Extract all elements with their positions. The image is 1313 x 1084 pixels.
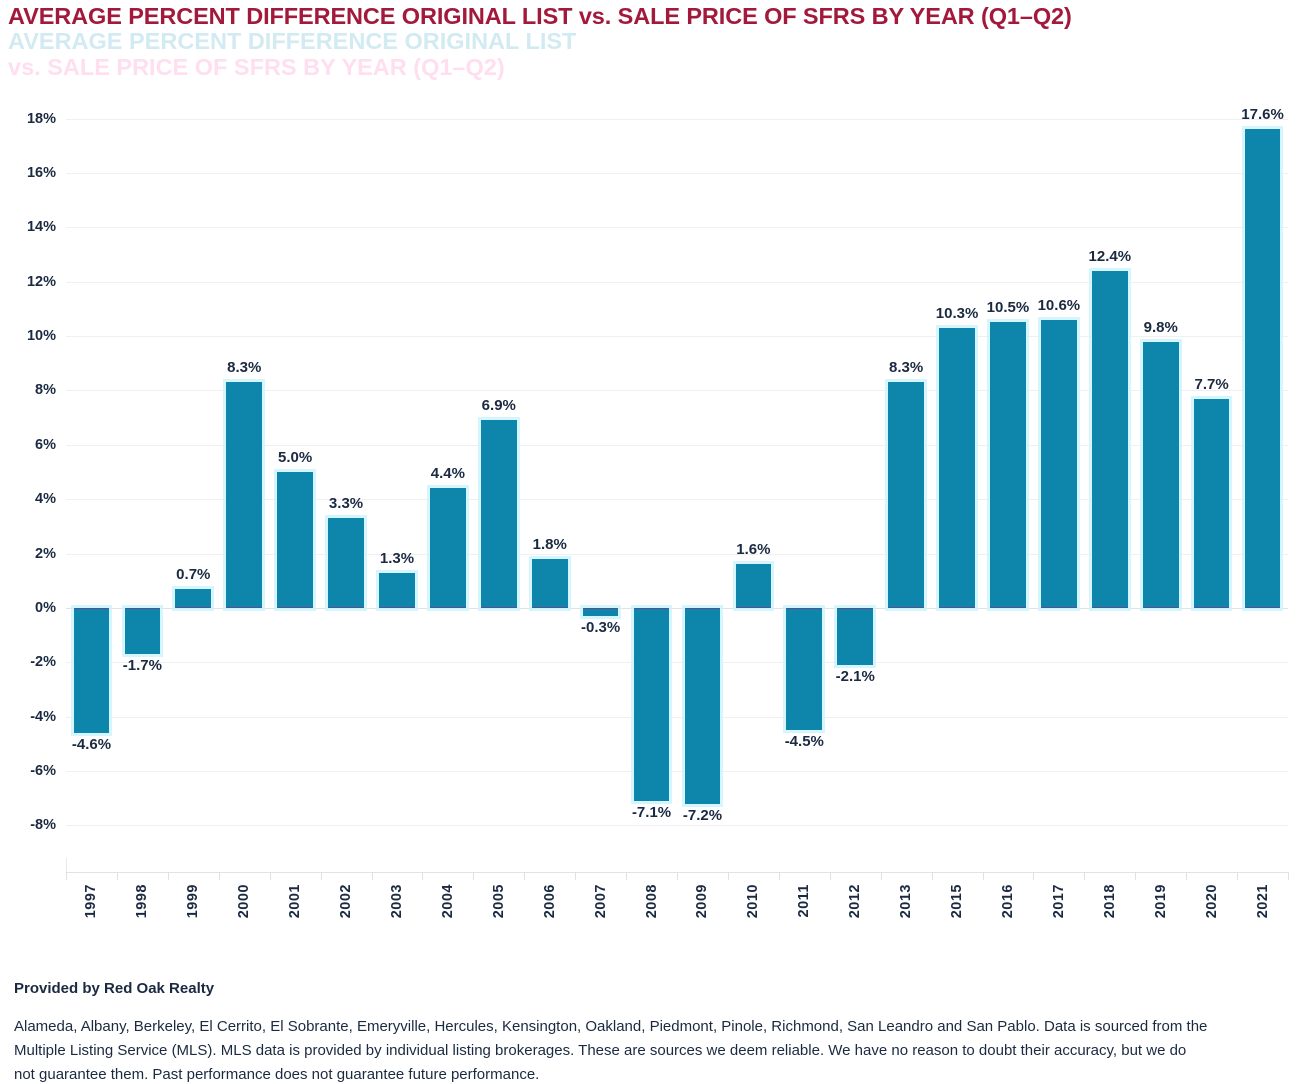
x-axis-tick-mark [1084,872,1085,880]
bar-1999[interactable] [175,589,211,608]
bar-value-label: -4.6% [72,736,111,753]
x-axis-label-2017: 2017 [1051,884,1067,918]
x-axis-tick-mark [677,872,678,880]
x-axis-label-2003: 2003 [389,884,405,918]
bar-slot: 1.3% [372,86,423,858]
bar-slot: 6.9% [473,86,524,858]
x-axis-tick-mark [1033,872,1034,880]
bar-slot: 10.3% [932,86,983,858]
bar-value-label: -4.5% [785,733,824,750]
bar-2012[interactable] [837,608,873,665]
x-axis-label-2012: 2012 [847,884,863,918]
bar-value-label: -2.1% [836,668,875,685]
bar-slot: 1.8% [524,86,575,858]
bar-value-label: 10.5% [987,299,1030,316]
x-axis-tick-mark [830,872,831,880]
bar-value-label: 5.0% [278,449,312,466]
bar-slot: -1.7% [117,86,168,858]
y-axis-tick-label: 2% [0,546,56,562]
x-axis-tick-mark [1186,872,1187,880]
y-axis-tick-label: 10% [0,328,56,344]
bar-slot: 10.5% [983,86,1034,858]
y-axis-tick-label: 12% [0,274,56,290]
bar-slot: 8.3% [881,86,932,858]
x-axis-tick-mark [881,872,882,880]
bar-2013[interactable] [888,382,924,608]
bar-2015[interactable] [939,328,975,608]
y-axis-tick-label: 4% [0,491,56,507]
bar-2003[interactable] [379,573,415,608]
bar-2006[interactable] [532,559,568,608]
bar-value-label: 1.6% [736,541,770,558]
x-axis-tick-mark [524,872,525,880]
x-axis-label-2019: 2019 [1153,884,1169,918]
bar-value-label: 17.6% [1241,106,1284,123]
bar-2010[interactable] [736,564,772,607]
bar-slot: 10.6% [1033,86,1084,858]
bar-slot: -0.3% [575,86,626,858]
footer-disclaimer: Alameda, Albany, Berkeley, El Cerrito, E… [14,1015,1210,1084]
x-axis-tick-mark [728,872,729,880]
bar-slot: 5.0% [270,86,321,858]
x-axis-tick-mark [219,872,220,880]
bar-value-label: -7.1% [632,804,671,821]
x-axis-label-2001: 2001 [287,884,303,918]
x-axis-tick-mark [983,872,984,880]
bar-slot: -4.5% [779,86,830,858]
bar-slot: -2.1% [830,86,881,858]
bar-slot: 7.7% [1186,86,1237,858]
x-axis-label-2000: 2000 [236,884,252,918]
y-axis-tick-label: 16% [0,165,56,181]
title-ghost-line-1: AVERAGE PERCENT DIFFERENCE ORIGINAL LIST [8,28,576,54]
bar-2019[interactable] [1143,342,1179,608]
bar-value-label: 8.3% [227,359,261,376]
x-axis-tick-mark [422,872,423,880]
footer-credit: Provided by Red Oak Realty [14,980,1304,997]
x-axis-label-1999: 1999 [185,884,201,918]
bar-slot: 8.3% [219,86,270,858]
bar-value-label: 3.3% [329,495,363,512]
bar-slot: 4.4% [422,86,473,858]
y-axis-tick-label: -4% [0,709,56,725]
bar-slot: 9.8% [1135,86,1186,858]
y-axis-tick-label: 18% [0,111,56,127]
x-axis-tick-mark [117,872,118,880]
bar-value-label: 6.9% [482,397,516,414]
bar-2018[interactable] [1092,271,1128,608]
bar-value-label: 7.7% [1195,376,1229,393]
bar-slot: -4.6% [66,86,117,858]
x-axis-label-2007: 2007 [593,884,609,918]
bar-2005[interactable] [481,420,517,608]
x-axis-tick-mark [66,872,67,880]
bar-value-label: 4.4% [431,465,465,482]
footer: Provided by Red Oak Realty Alameda, Alba… [14,980,1304,1084]
title-ghost-line-2: vs. SALE PRICE OF SFRS BY YEAR (Q1–Q2) [8,54,505,80]
y-axis-tick-label: 6% [0,437,56,453]
bar-value-label: -1.7% [123,657,162,674]
x-axis-tick-mark [372,872,373,880]
x-axis-label-2011: 2011 [796,884,812,917]
x-axis-label-2004: 2004 [440,884,456,918]
x-axis-tick-mark [932,872,933,880]
x-axis-label-2010: 2010 [745,884,761,918]
x-axis-tick-mark [321,872,322,880]
x-axis-tick-mark [1237,872,1238,880]
x-axis-label-1998: 1998 [134,884,150,918]
page-title: AVERAGE PERCENT DIFFERENCE ORIGINAL LIST… [8,1,1308,31]
bar-value-label: -7.2% [683,807,722,824]
bar-value-label: -0.3% [581,619,620,636]
bar-value-label: 0.7% [176,566,210,583]
bar-2004[interactable] [430,488,466,608]
bar-slot: 1.6% [728,86,779,858]
title-ghost-artifact: AVERAGE PERCENT DIFFERENCE ORIGINAL LIST… [8,28,828,80]
bar-slot: -7.2% [677,86,728,858]
bar-slot: 3.3% [321,86,372,858]
bar-2011[interactable] [786,608,822,730]
x-axis-tick-mark [270,872,271,880]
bar-value-label: 10.3% [936,305,979,322]
y-axis-tick-label: 14% [0,219,56,235]
x-axis-label-2018: 2018 [1102,884,1118,918]
bar-1998[interactable] [125,608,161,654]
bar-2001[interactable] [277,472,313,608]
bars-group: -4.6%-1.7%0.7%8.3%5.0%3.3%1.3%4.4%6.9%1.… [66,86,1288,858]
x-axis-label-2015: 2015 [949,884,965,918]
plot-area: -4.6%-1.7%0.7%8.3%5.0%3.3%1.3%4.4%6.9%1.… [66,86,1288,858]
bar-value-label: 10.6% [1038,297,1081,314]
chart-page: AVERAGE PERCENT DIFFERENCE ORIGINAL LIST… [0,0,1313,1084]
x-axis-label-2008: 2008 [644,884,660,918]
bar-2002[interactable] [328,518,364,608]
bar-value-label: 12.4% [1089,248,1132,265]
bar-slot: 17.6% [1237,86,1288,858]
x-axis-label-1997: 1997 [83,884,99,918]
bar-2000[interactable] [226,382,262,608]
x-axis-label-2021: 2021 [1255,884,1271,918]
x-axis-tick-mark [1288,872,1289,880]
y-axis-tick-label: -6% [0,763,56,779]
x-axis-label-2016: 2016 [1000,884,1016,918]
bar-2009[interactable] [685,608,721,804]
bar-slot: -7.1% [626,86,677,858]
x-axis-label-2013: 2013 [898,884,914,918]
bar-2020[interactable] [1194,399,1230,608]
title-region: AVERAGE PERCENT DIFFERENCE ORIGINAL LIST… [0,0,1313,78]
bar-2021[interactable] [1245,129,1281,607]
x-axis-tick-mark [168,872,169,880]
y-axis-tick-label: 8% [0,382,56,398]
bar-slot: 0.7% [168,86,219,858]
y-axis-tick-label: -2% [0,654,56,670]
bar-2008[interactable] [634,608,670,801]
y-axis-tick-label: 0% [0,600,56,616]
x-axis-tick-mark [1135,872,1136,880]
y-axis-tick-label: -8% [0,817,56,833]
x-axis-label-2006: 2006 [542,884,558,918]
bar-2016[interactable] [990,322,1026,607]
bar-value-label: 1.3% [380,550,414,567]
bar-2007[interactable] [583,608,619,616]
x-axis-tick-mark [626,872,627,880]
bar-2017[interactable] [1041,320,1077,608]
bar-value-label: 8.3% [889,359,923,376]
x-axis-label-2005: 2005 [491,884,507,918]
x-axis-tick-mark [575,872,576,880]
x-axis-label-2009: 2009 [694,884,710,918]
bar-1997[interactable] [74,608,110,733]
bar-slot: 12.4% [1084,86,1135,858]
bar-value-label: 9.8% [1144,319,1178,336]
x-axis-label-2020: 2020 [1204,884,1220,918]
x-axis-label-2002: 2002 [338,884,354,918]
x-axis-tick-mark [473,872,474,880]
bar-value-label: 1.8% [533,536,567,553]
x-axis-tick-mark [779,872,780,880]
